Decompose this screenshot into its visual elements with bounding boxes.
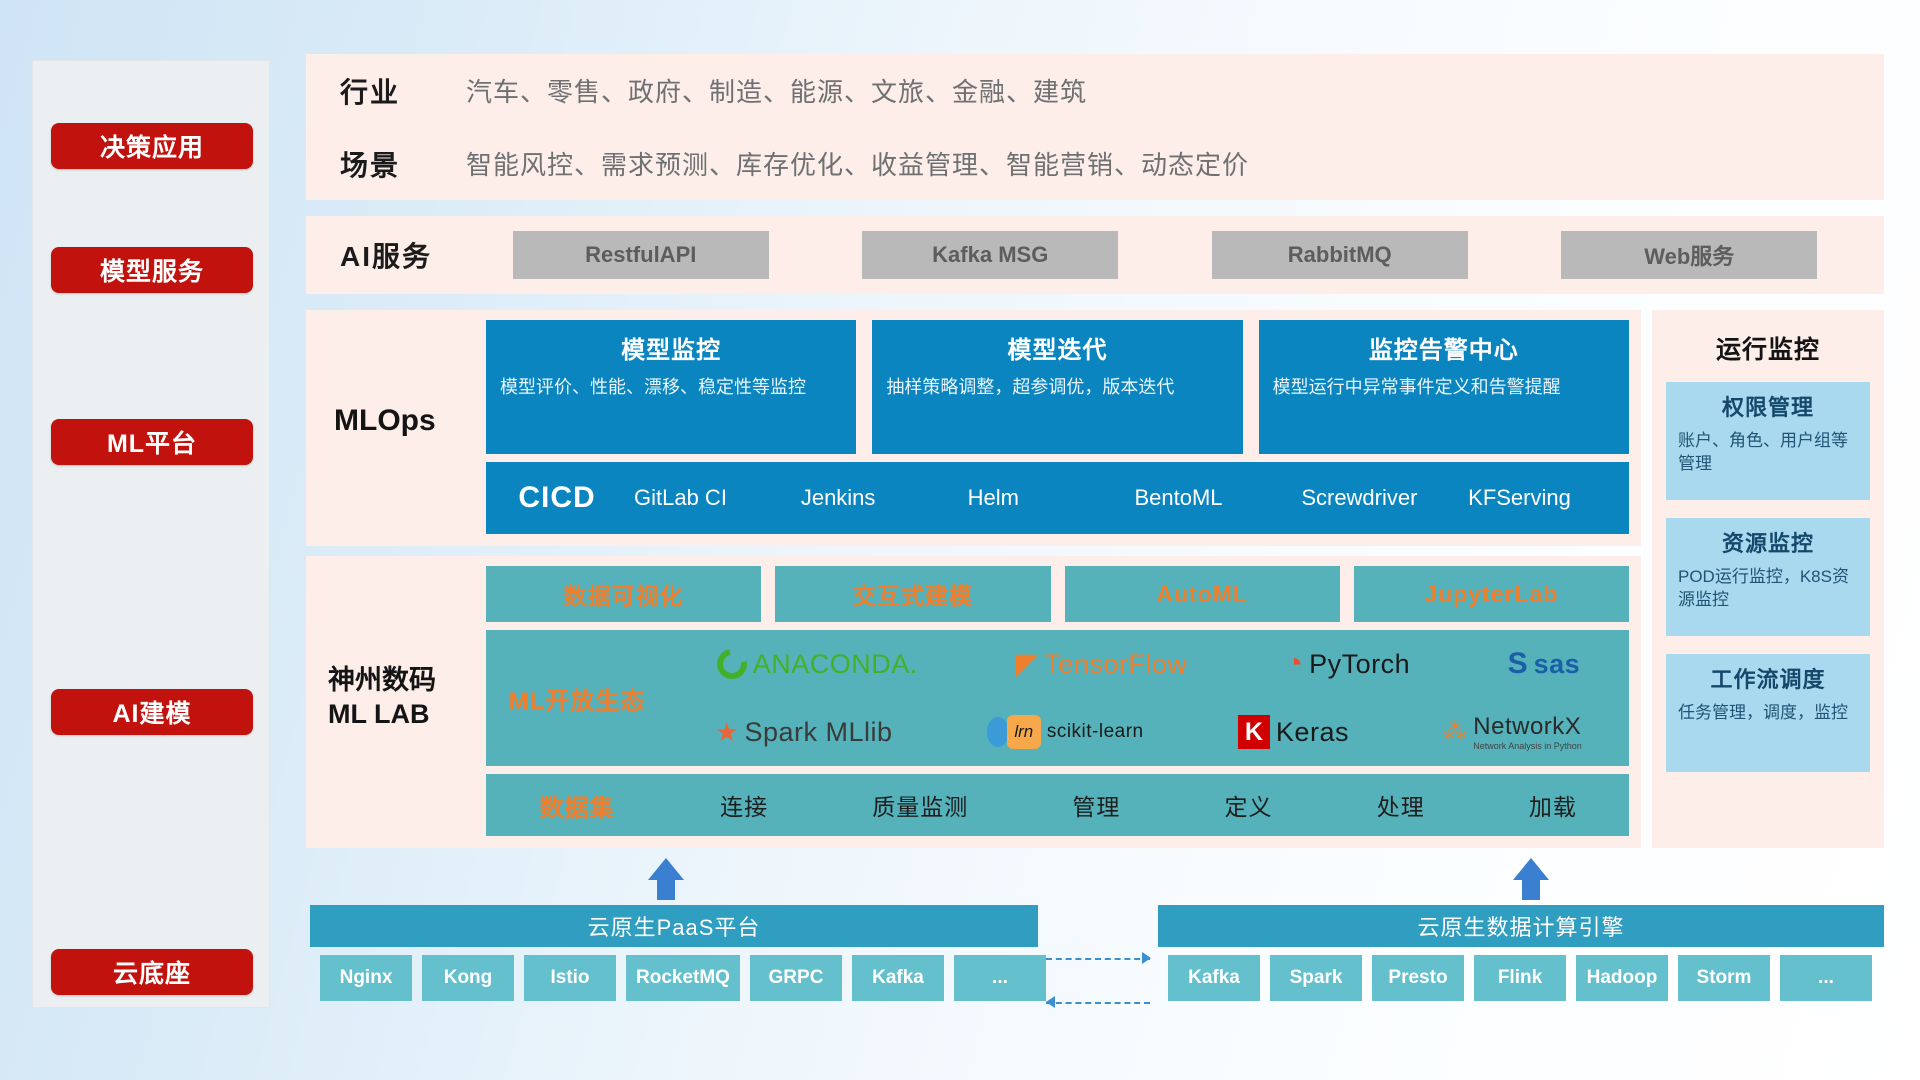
lab-tool-interactive-modeling[interactable]: 交互式建模 xyxy=(775,566,1050,622)
networkx-graph-icon: ⁂ xyxy=(1443,718,1467,747)
ml-lab-key-line1: 神州数码 xyxy=(328,664,486,698)
sas-logo: S sas xyxy=(1508,647,1581,681)
engine-chip-kafka[interactable]: Kafka xyxy=(1168,955,1260,1001)
pytorch-logo: ◔ PyTorch xyxy=(1285,647,1410,681)
card-desc: POD运行监控，K8S资源监控 xyxy=(1678,566,1858,612)
engine-chip-spark[interactable]: Spark xyxy=(1270,955,1362,1001)
cicd-item-kfserving[interactable]: KFServing xyxy=(1462,486,1629,509)
card-title: 权限管理 xyxy=(1678,390,1858,422)
pytorch-flame-icon: ◔ xyxy=(1285,647,1303,681)
mlops-card-model-monitoring[interactable]: 模型监控 模型评价、性能、漂移、稳定性等监控 xyxy=(486,320,856,454)
ecosystem-logo-row-2: ★ Spark MLlib lrn scikit-learn K Keras xyxy=(668,698,1629,766)
pytorch-logo-text: PyTorch xyxy=(1309,649,1410,680)
tensorflow-mark-icon: ◤ xyxy=(1015,647,1038,682)
ai-service-chip-list: RestfulAPI Kafka MSG RabbitMQ Web服务 xyxy=(466,231,1864,279)
networkx-logo-text: NetworkX xyxy=(1473,713,1581,740)
industry-row: 行业 汽车、零售、政府、制造、能源、文旅、金融、建筑 xyxy=(306,54,1884,127)
lab-tool-list: 数据可视化 交互式建模 AutoML JupyterLab xyxy=(486,566,1629,622)
paas-chip-rocketmq[interactable]: RocketMQ xyxy=(626,955,740,1001)
spark-mllib-logo-text: Spark MLlib xyxy=(744,717,892,748)
paas-chip-more[interactable]: ... xyxy=(954,955,1046,1001)
ai-service-chip-rabbitmq[interactable]: RabbitMQ xyxy=(1212,231,1468,279)
dataset-item-load[interactable]: 加载 xyxy=(1529,788,1577,822)
ai-service-chip-kafka-msg[interactable]: Kafka MSG xyxy=(862,231,1118,279)
sas-swirl-icon: S xyxy=(1508,647,1528,681)
cicd-item-gitlab-ci[interactable]: GitLab CI xyxy=(628,486,795,509)
scikit-learn-logo: lrn scikit-learn xyxy=(987,715,1144,749)
scenario-value: 智能风控、需求预测、库存优化、收益管理、智能营销、动态定价 xyxy=(466,145,1249,182)
keras-k-icon: K xyxy=(1238,715,1270,749)
engine-to-paas-connector xyxy=(1046,1002,1150,1004)
ml-open-ecosystem-bar: ML开放生态 ANACONDA. ◤ TensorFlow ◔ xyxy=(486,630,1629,766)
lab-tool-automl[interactable]: AutoML xyxy=(1065,566,1340,622)
runtime-monitoring-panel: 运行监控 权限管理 账户、角色、用户组等管理 资源监控 POD运行监控，K8S资… xyxy=(1652,310,1884,848)
data-compute-engine-bar: 云原生数据计算引擎 xyxy=(1158,905,1884,947)
ecosystem-logo-grid: ANACONDA. ◤ TensorFlow ◔ PyTorch S sas xyxy=(668,630,1629,766)
industry-value: 汽车、零售、政府、制造、能源、文旅、金融、建筑 xyxy=(466,72,1087,109)
spark-mllib-logo: ★ Spark MLlib xyxy=(715,717,892,748)
monitor-card-workflow-scheduling[interactable]: 工作流调度 任务管理，调度，监控 xyxy=(1666,654,1870,772)
cicd-label: CICD xyxy=(486,481,628,515)
monitor-card-permissions[interactable]: 权限管理 账户、角色、用户组等管理 xyxy=(1666,382,1870,500)
scikit-learn-logo-text: scikit-learn xyxy=(1047,721,1144,743)
rail-label: 决策应用 xyxy=(100,128,204,164)
mlops-card-alert-center[interactable]: 监控告警中心 模型运行中异常事件定义和告警提醒 xyxy=(1259,320,1629,454)
anaconda-logo-text: ANACONDA. xyxy=(753,649,918,680)
rail-item-decision-apps[interactable]: 决策应用 xyxy=(51,123,253,169)
ml-lab-key-line2: ML LAB xyxy=(328,698,486,732)
paas-chip-list: Nginx Kong Istio RocketMQ GRPC Kafka ... xyxy=(320,955,1046,1001)
engine-chip-storm[interactable]: Storm xyxy=(1678,955,1770,1001)
rail-item-ml-platform[interactable]: ML平台 xyxy=(51,419,253,465)
dataset-item-manage[interactable]: 管理 xyxy=(1072,788,1120,822)
paas-chip-istio[interactable]: Istio xyxy=(524,955,616,1001)
engine-chip-more[interactable]: ... xyxy=(1780,955,1872,1001)
scikit-blue-blob-icon xyxy=(987,717,1009,747)
paas-chip-nginx[interactable]: Nginx xyxy=(320,955,412,1001)
card-title: 工作流调度 xyxy=(1678,662,1858,694)
dataset-item-list: 连接 质量监测 管理 定义 处理 加载 xyxy=(668,788,1629,822)
lab-tool-data-visualization[interactable]: 数据可视化 xyxy=(486,566,761,622)
dataset-item-quality-monitor[interactable]: 质量监测 xyxy=(872,788,968,822)
architecture-diagram: 决策应用 模型服务 ML平台 AI建模 云底座 行业 汽车、零售、政府、制造、能… xyxy=(0,0,1920,1080)
connector-arrow-right-icon xyxy=(1142,952,1151,964)
ml-lab-panel: 神州数码 ML LAB 数据可视化 交互式建模 AutoML JupyterLa… xyxy=(306,556,1641,848)
rail-label: 云底座 xyxy=(113,954,191,990)
scenario-row: 场景 智能风控、需求预测、库存优化、收益管理、智能营销、动态定价 xyxy=(306,127,1884,200)
tensorflow-logo: ◤ TensorFlow xyxy=(1015,647,1187,682)
lab-tool-jupyterlab[interactable]: JupyterLab xyxy=(1354,566,1629,622)
dataset-item-process[interactable]: 处理 xyxy=(1377,788,1425,822)
rail-label: AI建模 xyxy=(112,694,191,730)
connector-arrow-left-icon xyxy=(1046,996,1055,1008)
dataset-label: 数据集 xyxy=(486,788,668,823)
paas-chip-kong[interactable]: Kong xyxy=(422,955,514,1001)
rail-label: ML平台 xyxy=(107,424,197,460)
mlops-content: 模型监控 模型评价、性能、漂移、稳定性等监控 模型迭代 抽样策略调整，超参调优，… xyxy=(486,310,1641,544)
paas-to-engine-connector xyxy=(1046,958,1150,960)
card-title: 模型监控 xyxy=(500,330,842,365)
ai-service-panel: AI服务 RestfulAPI Kafka MSG RabbitMQ Web服务 xyxy=(306,216,1884,294)
rail-item-model-service[interactable]: 模型服务 xyxy=(51,247,253,293)
industry-key: 行业 xyxy=(340,71,466,111)
card-title: 模型迭代 xyxy=(886,330,1228,365)
decision-apps-panel: 行业 汽车、零售、政府、制造、能源、文旅、金融、建筑 场景 智能风控、需求预测、… xyxy=(306,54,1884,200)
card-desc: 抽样策略调整，超参调优，版本迭代 xyxy=(886,375,1228,399)
networkx-tagline: Network Analysis in Python xyxy=(1473,741,1582,751)
rail-item-cloud-base[interactable]: 云底座 xyxy=(51,949,253,995)
ml-open-ecosystem-label: ML开放生态 xyxy=(486,681,668,716)
layer-label-rail: 决策应用 模型服务 ML平台 AI建模 云底座 xyxy=(32,60,270,1008)
spark-star-icon: ★ xyxy=(715,717,738,748)
rail-label: 模型服务 xyxy=(100,252,204,288)
cicd-item-helm[interactable]: Helm xyxy=(962,486,1129,509)
ai-service-chip-restfulapi[interactable]: RestfulAPI xyxy=(513,231,769,279)
keras-logo-text: Keras xyxy=(1276,717,1349,748)
paas-chip-kafka[interactable]: Kafka xyxy=(852,955,944,1001)
cicd-item-jenkins[interactable]: Jenkins xyxy=(795,486,962,509)
ml-lab-content: 数据可视化 交互式建模 AutoML JupyterLab ML开放生态 ANA… xyxy=(486,556,1641,846)
monitor-card-resources[interactable]: 资源监控 POD运行监控，K8S资源监控 xyxy=(1666,518,1870,636)
networkx-logo: ⁂ NetworkX Network Analysis in Python xyxy=(1443,713,1582,751)
paas-platform-bar: 云原生PaaS平台 xyxy=(310,905,1038,947)
cicd-item-screwdriver[interactable]: Screwdriver xyxy=(1295,486,1462,509)
card-desc: 账户、角色、用户组等管理 xyxy=(1678,430,1858,476)
engine-chip-list: Kafka Spark Presto Flink Hadoop Storm ..… xyxy=(1168,955,1872,1001)
mlops-card-list: 模型监控 模型评价、性能、漂移、稳定性等监控 模型迭代 抽样策略调整，超参调优，… xyxy=(486,320,1629,454)
scenario-key: 场景 xyxy=(340,144,466,184)
card-title: 资源监控 xyxy=(1678,526,1858,558)
sas-logo-text: sas xyxy=(1534,649,1581,680)
card-desc: 任务管理，调度，监控 xyxy=(1678,702,1858,725)
ai-service-chip-web[interactable]: Web服务 xyxy=(1561,231,1817,279)
scikit-orange-blob-icon: lrn xyxy=(1007,715,1041,749)
engine-chip-flink[interactable]: Flink xyxy=(1474,955,1566,1001)
cicd-bar: CICD GitLab CI Jenkins Helm BentoML Scre… xyxy=(486,462,1629,534)
ai-service-key: AI服务 xyxy=(340,235,466,275)
ecosystem-logo-row-1: ANACONDA. ◤ TensorFlow ◔ PyTorch S sas xyxy=(668,630,1629,698)
mlops-panel: MLOps 模型监控 模型评价、性能、漂移、稳定性等监控 模型迭代 抽样策略调整… xyxy=(306,310,1641,546)
engine-chip-hadoop[interactable]: Hadoop xyxy=(1576,955,1668,1001)
paas-chip-grpc[interactable]: GRPC xyxy=(750,955,842,1001)
tensorflow-logo-text: TensorFlow xyxy=(1044,649,1187,680)
dataset-item-define[interactable]: 定义 xyxy=(1225,788,1273,822)
dataset-bar: 数据集 连接 质量监测 管理 定义 处理 加载 xyxy=(486,774,1629,836)
anaconda-logo: ANACONDA. xyxy=(717,649,918,680)
card-desc: 模型评价、性能、漂移、稳定性等监控 xyxy=(500,375,842,399)
dataset-item-connect[interactable]: 连接 xyxy=(720,788,768,822)
keras-logo: K Keras xyxy=(1238,715,1349,749)
mlops-card-model-iteration[interactable]: 模型迭代 抽样策略调整，超参调优，版本迭代 xyxy=(872,320,1242,454)
anaconda-ring-icon xyxy=(711,643,753,685)
card-title: 监控告警中心 xyxy=(1273,330,1615,365)
engine-chip-presto[interactable]: Presto xyxy=(1372,955,1464,1001)
rail-item-ai-modeling[interactable]: AI建模 xyxy=(51,689,253,735)
cicd-item-bentoml[interactable]: BentoML xyxy=(1128,486,1295,509)
runtime-monitoring-title: 运行监控 xyxy=(1662,330,1874,366)
ml-lab-key: 神州数码 ML LAB xyxy=(306,556,486,732)
cicd-item-list: GitLab CI Jenkins Helm BentoML Screwdriv… xyxy=(628,486,1629,509)
card-desc: 模型运行中异常事件定义和告警提醒 xyxy=(1273,375,1615,399)
mlops-key: MLOps xyxy=(306,310,486,438)
